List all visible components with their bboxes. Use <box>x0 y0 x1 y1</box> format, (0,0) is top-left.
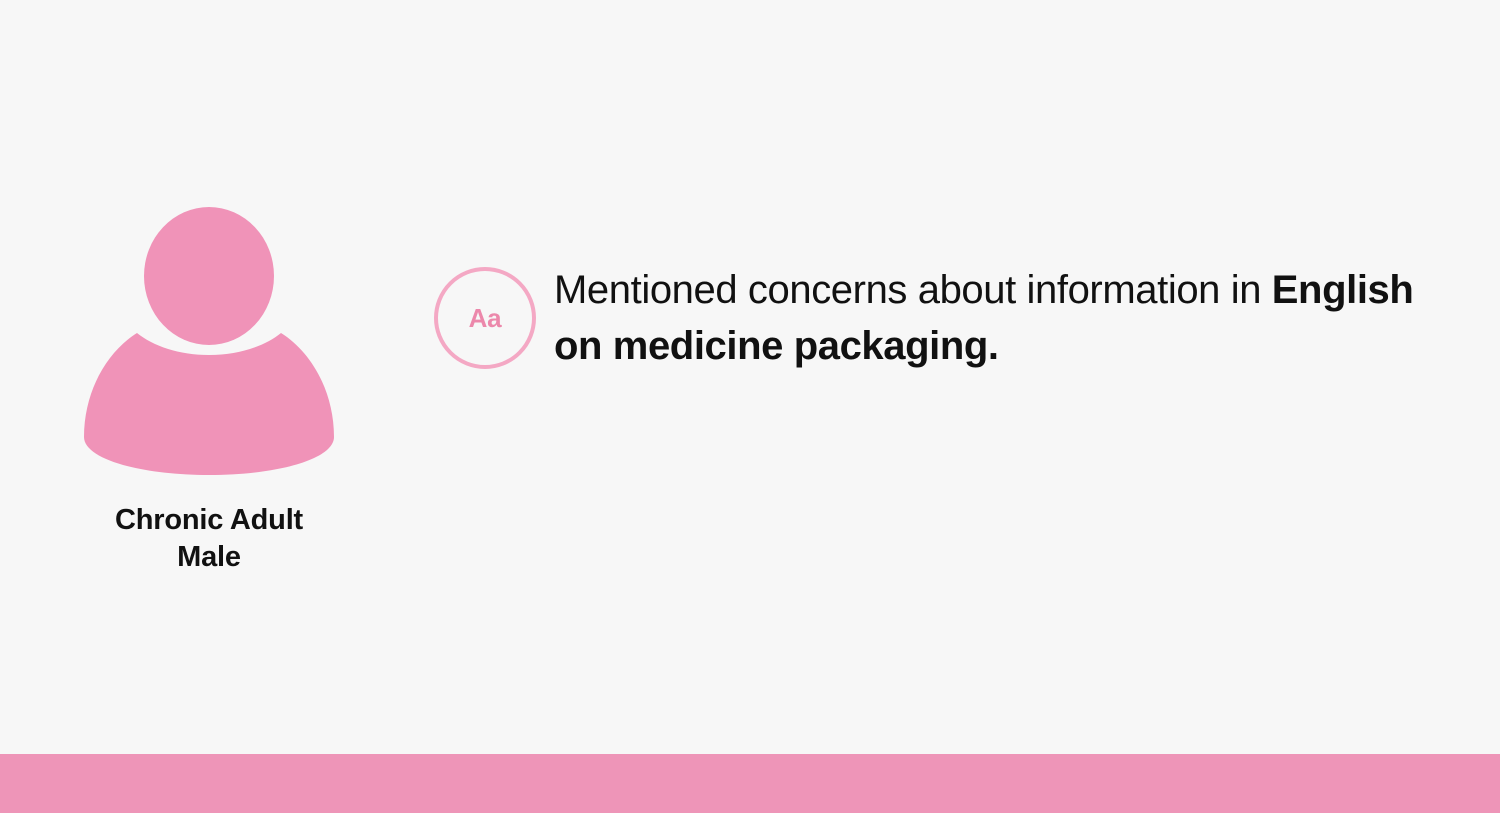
persona-block: Chronic Adult Male <box>78 205 340 576</box>
slide-canvas: Chronic Adult Male Aa Mentioned concerns… <box>0 0 1500 813</box>
footer-accent-band <box>0 754 1500 813</box>
language-aa-icon: Aa <box>434 267 536 369</box>
user-avatar-icon <box>78 205 340 480</box>
statement-text: Mentioned concerns about information in … <box>554 262 1434 374</box>
persona-label: Chronic Adult Male <box>115 502 303 576</box>
statement-row: Aa Mentioned concerns about information … <box>434 262 1434 374</box>
badge-label: Aa <box>469 305 502 331</box>
statement-lead-text: Mentioned concerns about information in <box>554 268 1272 312</box>
